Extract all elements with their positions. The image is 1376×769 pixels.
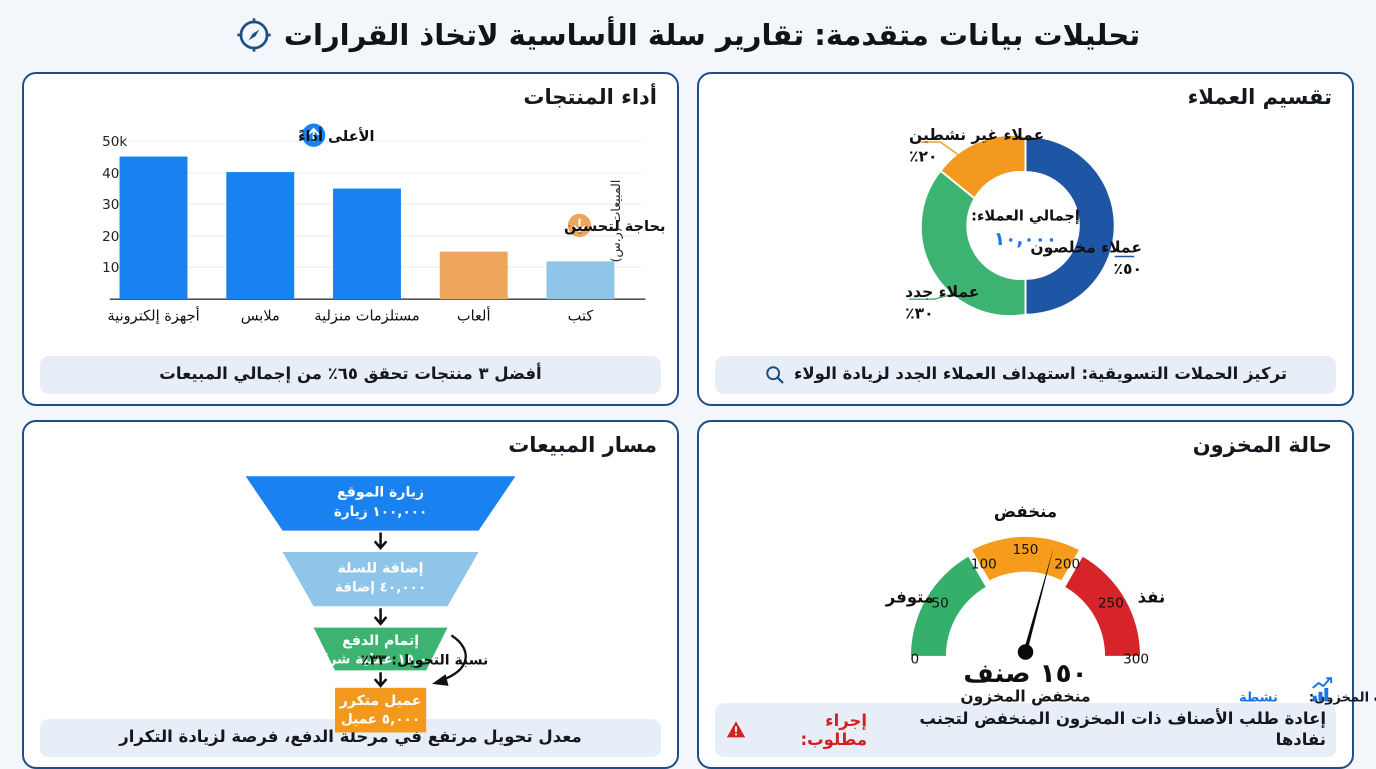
donut-percent-loyal: ٥٠٪ <box>1114 260 1142 278</box>
bar-home-supplies <box>333 189 401 300</box>
funnel-stage-cart-label: إضافة للسلة <box>338 560 424 576</box>
dashboard-page: تحليلات بيانات متقدمة: تقارير سلة الأساس… <box>0 0 1376 768</box>
panel-title-products: أداء المنتجات <box>40 86 657 109</box>
panel-inventory-status: حالة المخزون 0 50 100 <box>697 420 1354 769</box>
compass-icon <box>236 17 272 53</box>
search-icon <box>764 364 785 385</box>
panel-grid: تقسيم العملاء عملاء مخلصون ٥٠٪ <box>22 72 1354 758</box>
gauge-zone-label-low: منخفض <box>994 502 1057 521</box>
products-insight-text: أفضل ٣ منتجات تحقق ٦٥٪ من إجمالي المبيعا… <box>159 364 541 385</box>
panel-product-performance: أداء المنتجات <box>22 72 679 406</box>
gauge-tick-200: 200 <box>1054 556 1080 572</box>
gauge-tick-250: 250 <box>1098 595 1124 611</box>
donut-label-new: عملاء جدد <box>905 283 979 301</box>
bar-clothing <box>226 172 294 299</box>
xtick-toys: ألعاب <box>457 306 491 325</box>
funnel-stage-repeat-label: عميل متكرر <box>339 693 422 709</box>
gauge-tick-0: 0 <box>911 651 920 667</box>
customers-insight-text: تركيز الحملات التسويقية: استهداف العملاء… <box>794 364 1287 385</box>
gauge-zone-label-out: نفذ <box>1138 587 1166 606</box>
panel-sales-funnel: مسار المبيعات زيارة الموقع ١٠٠,٠٠٠ زيارة… <box>22 420 679 769</box>
funnel-stage-cart-value: ٤٠,٠٠٠ إضافة <box>335 580 426 596</box>
funnel-arrow-2-icon <box>375 608 387 624</box>
xtick-clothing: ملابس <box>241 308 280 325</box>
conversion-arrow-head <box>432 674 448 686</box>
xtick-home-supplies: مستلزمات منزلية <box>314 308 419 325</box>
gauge-status: منخفض المخزون <box>960 687 1090 705</box>
donut-percent-new: ٣٠٪ <box>905 305 933 323</box>
panel-title-inventory: حالة المخزون <box>715 434 1332 457</box>
funnel-stage-checkout-label: إتمام الدفع <box>342 633 419 649</box>
funnel-stage-repeat-value: ٥,٠٠٠ عميل <box>341 711 420 727</box>
gauge-svg: 0 50 100 150 200 250 300 منخفض متوفر نفذ <box>715 457 1336 700</box>
product-bar-chart: 50k 40k 30k 20k 10k أجهزة إلكترونية <box>40 109 661 352</box>
inventory-action-footer: إعادة طلب الأصناف ذات المخزون المنخفض لت… <box>715 703 1336 756</box>
inventory-alerts-badge[interactable]: تنبيهات المخزون: نشطة <box>1239 678 1376 705</box>
gauge-needle-hub <box>1018 644 1034 660</box>
warning-icon <box>725 719 747 740</box>
inventory-action-text: إعادة طلب الأصناف ذات المخزون المنخفض لت… <box>876 709 1326 750</box>
funnel-arrow-1-icon <box>375 532 387 548</box>
xtick-electronics: أجهزة إلكترونية <box>107 306 199 325</box>
donut-label-inactive: عملاء غير نشطين <box>909 126 1044 144</box>
products-insight-footer: أفضل ٣ منتجات تحقق ٦٥٪ من إجمالي المبيعا… <box>40 356 661 394</box>
funnel-stage-visit-value: ١٠٠,٠٠٠ زيارة <box>334 504 427 520</box>
funnel-svg: زيارة الموقع ١٠٠,٠٠٠ زيارة إضافة للسلة ٤… <box>40 457 661 715</box>
donut-center-value: ١٠,٠٠٠ <box>994 229 1057 250</box>
bar-chart-svg: 50k 40k 30k 20k 10k أجهزة إلكترونية <box>40 109 661 352</box>
dashboard-header: تحليلات بيانات متقدمة: تقارير سلة الأساس… <box>0 0 1376 66</box>
gauge-tick-100: 100 <box>971 556 997 572</box>
panel-title-customers: تقسيم العملاء <box>715 86 1332 109</box>
bar-toys <box>440 252 508 300</box>
panel-customer-segmentation: تقسيم العملاء عملاء مخلصون ٥٠٪ <box>697 72 1354 406</box>
page-title: تحليلات بيانات متقدمة: تقارير سلة الأساس… <box>284 18 1140 52</box>
customers-insight-footer: تركيز الحملات التسويقية: استهداف العملاء… <box>715 356 1336 394</box>
donut-center-label: إجمالي العملاء: <box>971 208 1080 225</box>
inventory-gauge-chart: 0 50 100 150 200 250 300 منخفض متوفر نفذ <box>715 457 1336 700</box>
y-axis-label: المبيعات (ر.س) <box>608 179 623 262</box>
panel-title-funnel: مسار المبيعات <box>40 434 657 457</box>
customer-donut-chart: عملاء مخلصون ٥٠٪ عملاء غير نشطين ٢٠٪ عمل… <box>715 109 1336 352</box>
gauge-zone-label-available: متوفر <box>885 587 934 607</box>
donut-svg: عملاء مخلصون ٥٠٪ عملاء غير نشطين ٢٠٪ عمل… <box>715 109 1336 352</box>
conversion-rate-annotation: نسبة التحويل: ٣٣٪ <box>361 652 489 668</box>
xtick-books: كتب <box>568 308 594 325</box>
funnel-stage-visit-label: زيارة الموقع <box>337 484 424 500</box>
inventory-alerts-state: نشطة <box>1239 690 1278 705</box>
gauge-tick-300: 300 <box>1123 651 1149 667</box>
gauge-tick-150: 150 <box>1013 542 1039 558</box>
bar-books <box>547 261 615 299</box>
sales-funnel-chart: زيارة الموقع ١٠٠,٠٠٠ زيارة إضافة للسلة ٤… <box>40 457 661 715</box>
donut-percent-inactive: ٢٠٪ <box>909 147 937 165</box>
annotation-top-performer: الأعلى أداءً <box>298 126 374 145</box>
bar-electronics <box>120 157 188 300</box>
funnel-arrow-3-icon <box>375 672 387 686</box>
inventory-action-accent: إجراء مطلوب: <box>756 711 867 749</box>
gauge-value: ١٥٠ صنف <box>963 659 1087 689</box>
donut-slice-loyal <box>1026 136 1115 315</box>
ytick-50k: 50k <box>102 134 127 150</box>
